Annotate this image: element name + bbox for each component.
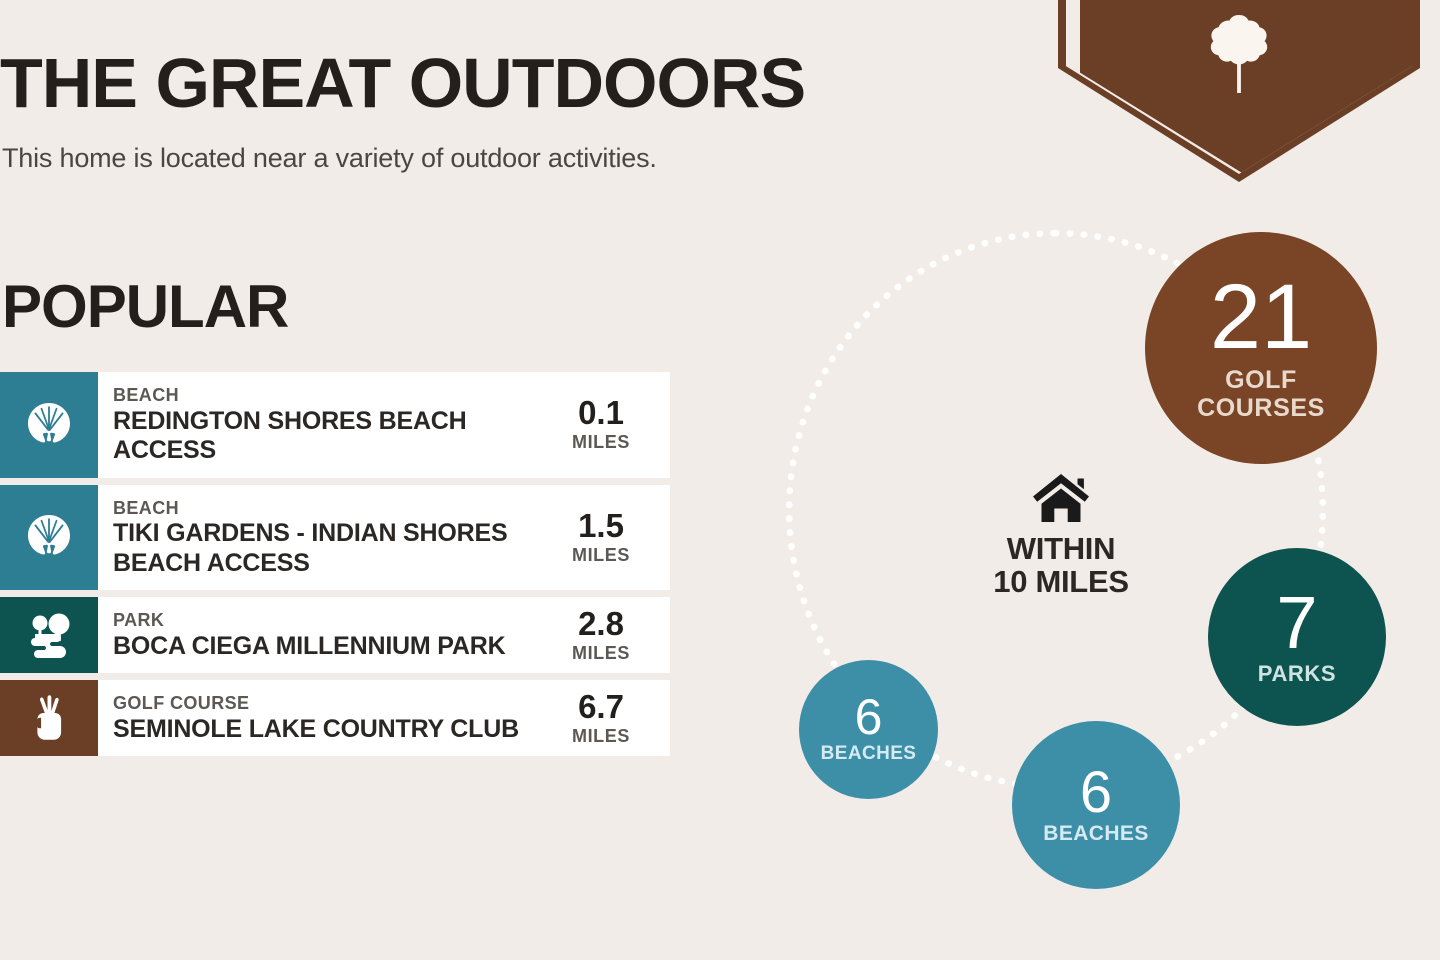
center-text-line1: WITHIN <box>1007 531 1115 566</box>
distance-value: 6.7 <box>578 690 624 723</box>
category-tile-park <box>0 597 98 673</box>
bubble-label: BEACHES <box>821 744 917 765</box>
list-item-name: REDINGTON SHORES BEACH ACCESS <box>113 407 554 466</box>
page-title: THE GREAT OUTDOORS <box>0 48 805 118</box>
proximity-diagram: 6 BEACHES 6 BEACHES 7 PARKS 21 GOLF COUR… <box>740 200 1440 960</box>
distance-unit: MILES <box>572 432 630 453</box>
page-subtitle: This home is located near a variety of o… <box>2 143 657 174</box>
list-item-distance: 2.8 MILES <box>554 597 670 673</box>
distance-value: 0.1 <box>578 396 624 429</box>
golf-bag-icon <box>21 690 77 746</box>
bubble-count: 6 <box>1080 765 1112 820</box>
bubble-label-line1: GOLF <box>1225 366 1297 394</box>
tree-icon <box>1206 12 1272 94</box>
list-item-category: GOLF COURSE <box>113 692 554 715</box>
popular-list: BEACH REDINGTON SHORES BEACH ACCESS 0.1 … <box>0 372 670 763</box>
bubble-count: 6 <box>855 694 883 742</box>
list-item-category: PARK <box>113 609 554 632</box>
list-item-name: SEMINOLE LAKE COUNTRY CLUB <box>113 715 554 745</box>
distance-unit: MILES <box>572 643 630 664</box>
bubble-label: PARKS <box>1258 662 1336 686</box>
bubble-parks[interactable]: 7 PARKS <box>1208 548 1386 726</box>
list-item-name: TIKI GARDENS - INDIAN SHORES BEACH ACCES… <box>113 519 554 578</box>
distance-value: 2.8 <box>578 607 624 640</box>
bubble-golf-courses[interactable]: 21 GOLF COURSES <box>1145 232 1377 464</box>
category-tile-beach <box>0 485 98 591</box>
list-item-distance: 0.1 MILES <box>554 372 670 478</box>
list-item-body: BEACH TIKI GARDENS - INDIAN SHORES BEACH… <box>98 485 554 591</box>
popular-section-heading: POPULAR <box>2 277 288 337</box>
center-text: WITHIN 10 MILES <box>956 532 1166 599</box>
house-icon <box>1031 472 1091 524</box>
list-item[interactable]: PARK BOCA CIEGA MILLENNIUM PARK 2.8 MILE… <box>0 597 670 673</box>
center-text-line2: 10 MILES <box>993 564 1128 599</box>
list-item-body: PARK BOCA CIEGA MILLENNIUM PARK <box>98 597 554 673</box>
bubble-count: 7 <box>1276 588 1317 658</box>
infographic-root: THE GREAT OUTDOORS This home is located … <box>0 0 1440 960</box>
bubble-beaches-bottom[interactable]: 6 BEACHES <box>1012 721 1180 889</box>
list-item-category: BEACH <box>113 497 554 520</box>
list-item-body: GOLF COURSE SEMINOLE LAKE COUNTRY CLUB <box>98 680 554 756</box>
bubble-count: 21 <box>1210 274 1312 361</box>
bubble-beaches-left[interactable]: 6 BEACHES <box>799 660 938 799</box>
bubble-label-line2: COURSES <box>1197 394 1325 422</box>
bubble-label: BEACHES <box>1043 822 1148 845</box>
category-tile-beach <box>0 372 98 478</box>
center-marker: WITHIN 10 MILES <box>956 472 1166 599</box>
list-item[interactable]: BEACH REDINGTON SHORES BEACH ACCESS 0.1 … <box>0 372 670 478</box>
list-item-name: BOCA CIEGA MILLENNIUM PARK <box>113 632 554 662</box>
distance-value: 1.5 <box>578 509 624 542</box>
park-trees-icon <box>21 607 77 663</box>
list-item-body: BEACH REDINGTON SHORES BEACH ACCESS <box>98 372 554 478</box>
list-item-category: BEACH <box>113 384 554 407</box>
shell-icon <box>21 397 77 453</box>
distance-unit: MILES <box>572 545 630 566</box>
category-tile-golf <box>0 680 98 756</box>
list-item[interactable]: GOLF COURSE SEMINOLE LAKE COUNTRY CLUB 6… <box>0 680 670 756</box>
list-item-distance: 6.7 MILES <box>554 680 670 756</box>
list-item-distance: 1.5 MILES <box>554 485 670 591</box>
shell-icon <box>21 509 77 565</box>
list-item[interactable]: BEACH TIKI GARDENS - INDIAN SHORES BEACH… <box>0 485 670 591</box>
distance-unit: MILES <box>572 726 630 747</box>
bubble-label: GOLF COURSES <box>1197 367 1325 422</box>
